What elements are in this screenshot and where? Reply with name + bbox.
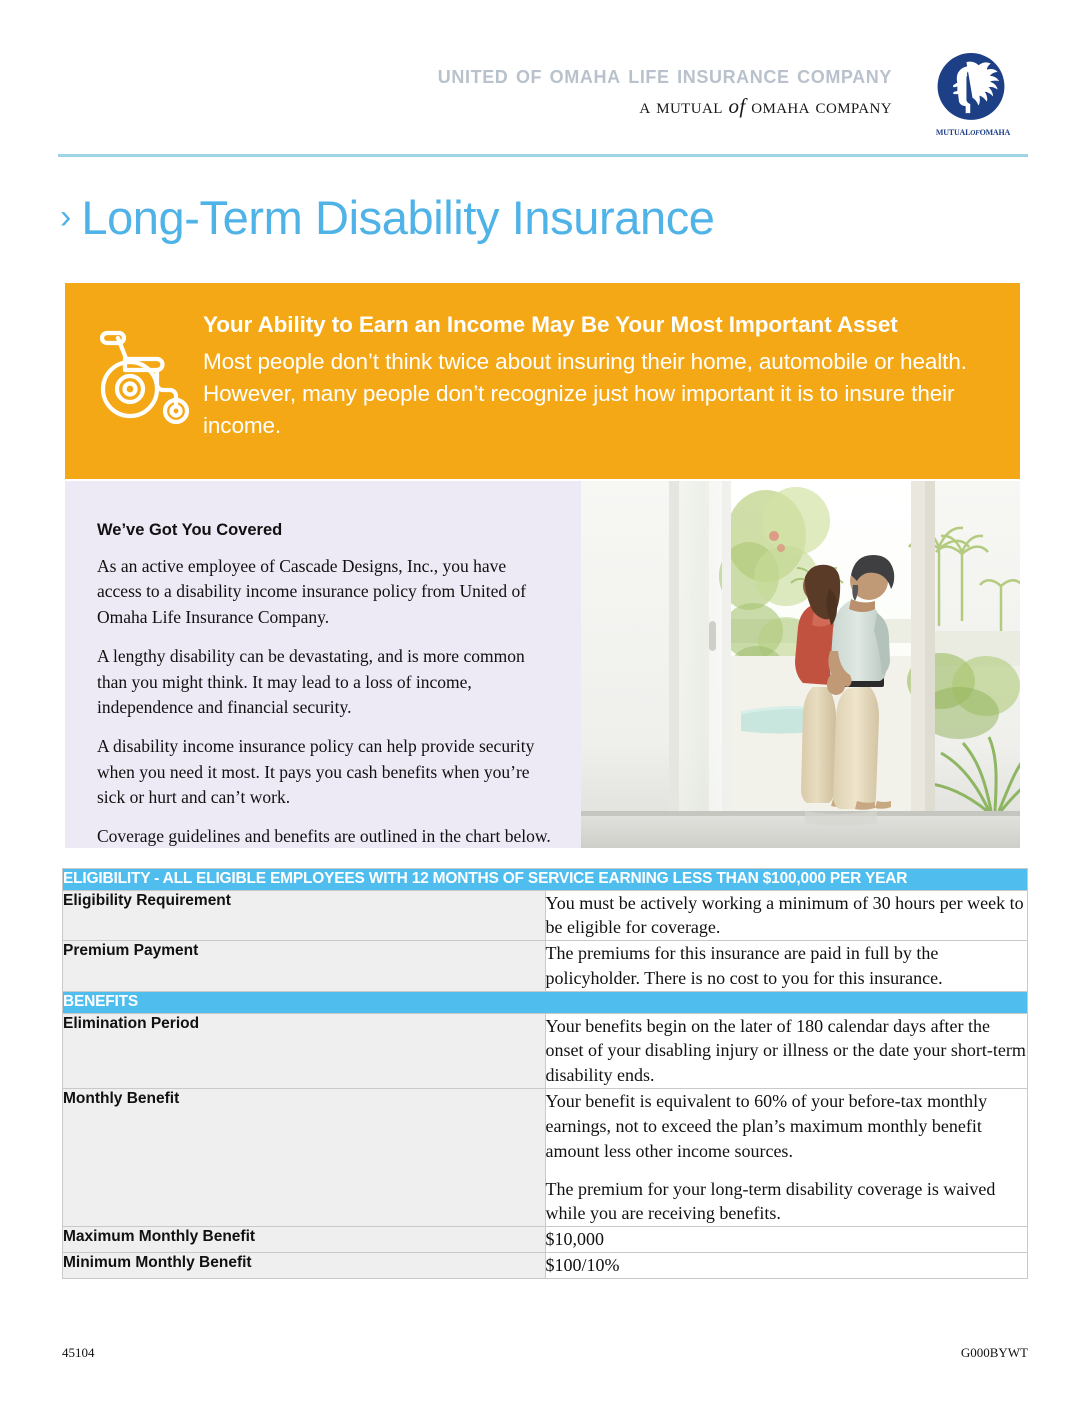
row-paragraph: Your benefit is equivalent to 60% of you… [546,1089,1028,1163]
brand-text-block: United of Omaha Life Insurance Company A… [300,62,892,119]
callout-heading: Your Ability to Earn an Income May Be Yo… [203,311,1003,339]
table-section-header-row: ELIGIBILITY - ALL ELIGIBLE EMPLOYEES WIT… [63,869,1028,891]
row-value-eligibility-requirement: You must be actively working a minimum o… [545,890,1028,941]
row-label-elimination-period: Elimination Period [63,1013,546,1088]
row-paragraph: You must be actively working a minimum o… [546,891,1028,941]
row-label-monthly-benefit: Monthly Benefit [63,1089,546,1227]
row-paragraph: Your benefits begin on the later of 180 … [546,1014,1028,1088]
row-value-elimination-period: Your benefits begin on the later of 180 … [545,1013,1028,1088]
table-row: Monthly Benefit Your benefit is equivale… [63,1089,1028,1227]
logo-wordmark-part-1: Mutual [936,126,970,138]
logo-wordmark-part-2: Omaha [980,126,1011,138]
company-name: United of Omaha Life Insurance Company [300,62,892,88]
page-footer: 45104 G000BYWT [62,1345,1028,1361]
info-paragraph: As an active employee of Cascade Designs… [97,554,553,630]
section-header-eligibility: ELIGIBILITY - ALL ELIGIBLE EMPLOYEES WIT… [63,869,1028,891]
row-paragraph: $100/10% [546,1253,1028,1278]
logo-wordmark-italic-of: of [970,127,979,138]
omaha-chief-logo-icon: ® [933,50,1009,126]
row-label-minimum-monthly-benefit: Minimum Monthly Benefit [63,1252,546,1278]
highlight-callout-banner: Your Ability to Earn an Income May Be Yo… [65,283,1020,479]
svg-text:®: ® [996,107,1000,114]
mutual-of-omaha-logo: ® MutualofOmaha [921,50,1025,146]
company-tagline: A Mutual of Omaha Company [300,94,892,119]
tagline-italic-of: of [728,94,745,118]
row-label-eligibility-requirement: Eligibility Requirement [63,890,546,941]
row-value-minimum-monthly-benefit: $100/10% [545,1252,1028,1278]
tagline-part-1: A Mutual [639,94,722,118]
page-title: Long-Term Disability Insurance [81,190,714,245]
footer-form-number: 45104 [62,1345,95,1361]
benefits-table: ELIGIBILITY - ALL ELIGIBLE EMPLOYEES WIT… [62,868,1028,1279]
row-value-maximum-monthly-benefit: $10,000 [545,1227,1028,1253]
section-header-benefits: BENEFITS [63,991,1028,1013]
footer-document-code: G000BYWT [961,1345,1028,1361]
row-paragraph: The premiums for this insurance are paid… [546,941,1028,991]
info-paragraph: A lengthy disability can be devastating,… [97,644,553,720]
row-label-premium-payment: Premium Payment [63,941,546,992]
couple-doorway-photo [581,481,1020,848]
info-panel-inner: We’ve Got You Covered As an active emplo… [97,521,553,850]
page-masthead: United of Omaha Life Insurance Company A… [0,0,1088,156]
row-paragraph: The premium for your long-term disabilit… [546,1177,1028,1227]
table-row: Elimination Period Your benefits begin o… [63,1013,1028,1088]
table-row: Premium Payment The premiums for this in… [63,941,1028,992]
row-value-premium-payment: The premiums for this insurance are paid… [545,941,1028,992]
logo-wordmark: MutualofOmaha [921,126,1025,138]
callout-body: Most people don’t think twice about insu… [203,346,1003,442]
header-divider-rule [58,154,1028,157]
info-panel-heading: We’ve Got You Covered [97,521,553,540]
row-paragraph: $10,000 [546,1227,1028,1252]
table-row: Minimum Monthly Benefit $100/10% [63,1252,1028,1278]
info-paragraph: A disability income insurance policy can… [97,734,553,810]
table-row: Maximum Monthly Benefit $10,000 [63,1227,1028,1253]
row-label-maximum-monthly-benefit: Maximum Monthly Benefit [63,1227,546,1253]
tagline-part-2: Omaha Company [751,94,892,118]
row-value-monthly-benefit: Your benefit is equivalent to 60% of you… [545,1089,1028,1227]
chevron-right-icon: › [60,200,71,234]
page-title-row: › Long-Term Disability Insurance [60,186,1020,248]
content-band: We’ve Got You Covered As an active emplo… [65,481,1020,848]
info-paragraph: Coverage guidelines and benefits are out… [97,824,553,849]
wheelchair-icon [91,319,197,431]
table-section-header-row: BENEFITS [63,991,1028,1013]
info-panel: We’ve Got You Covered As an active emplo… [65,481,581,848]
callout-text-block: Your Ability to Earn an Income May Be Yo… [203,311,1003,442]
table-row: Eligibility Requirement You must be acti… [63,890,1028,941]
photo-illustration [581,481,1020,848]
